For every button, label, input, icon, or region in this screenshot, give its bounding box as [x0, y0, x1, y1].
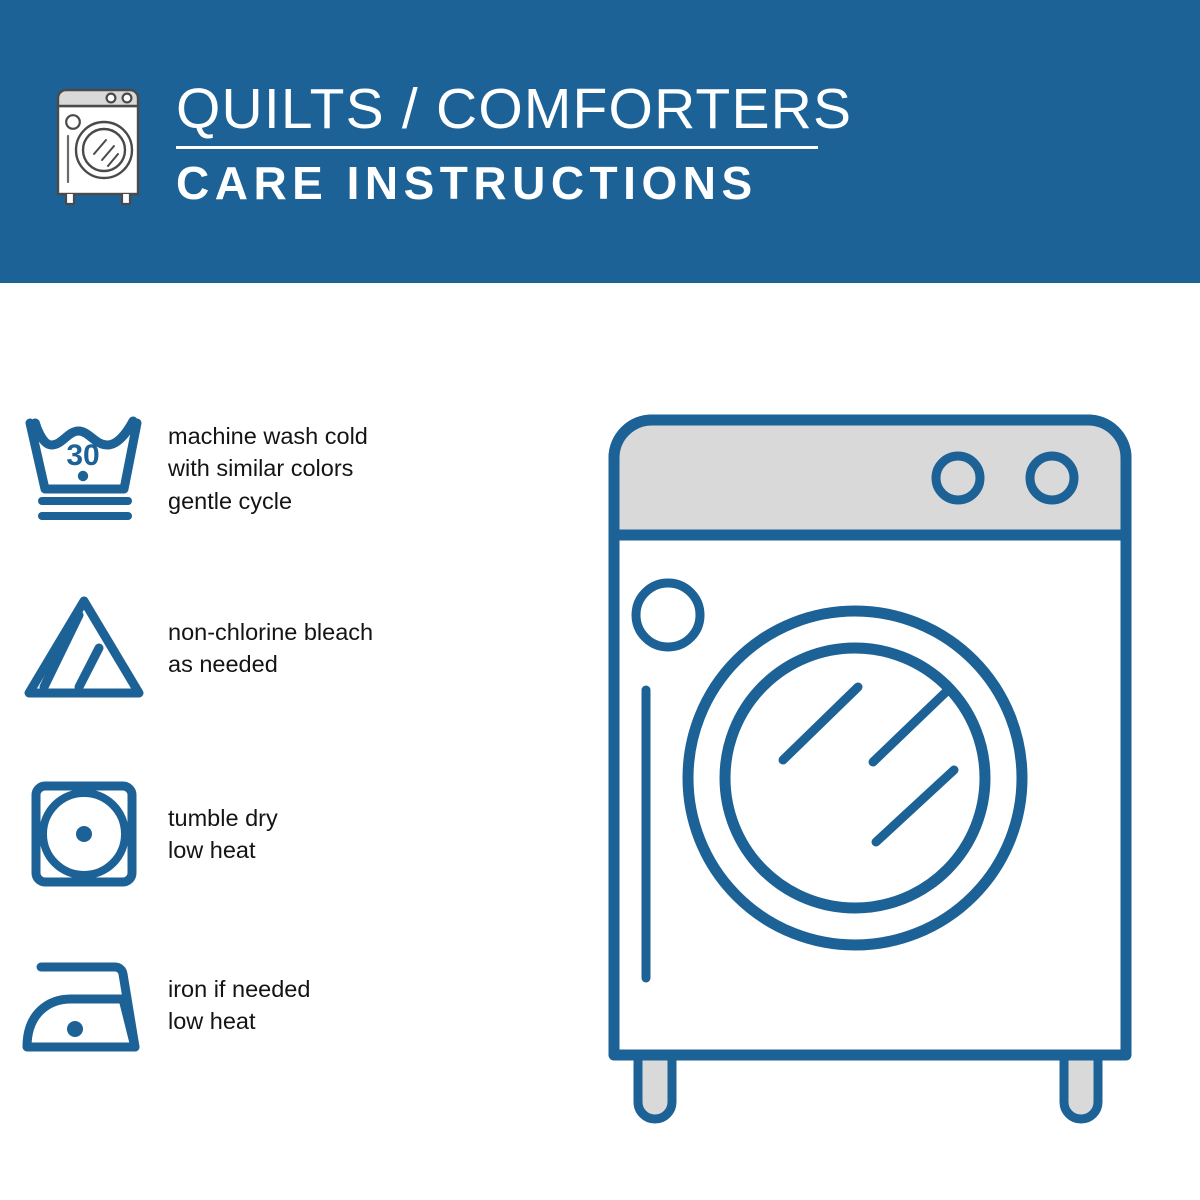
logo-knob-right: [123, 94, 132, 103]
wash-gentle-dot: [77, 471, 87, 481]
iron-icon: [19, 955, 149, 1055]
care-row-iron: iron if needed low heat: [0, 955, 560, 1055]
care-instruction-list: 30 machine wash cold with similar colors…: [0, 283, 560, 1200]
care-symbol-slot: [0, 955, 168, 1055]
dryer-heat-dot: [76, 826, 92, 842]
tumble-dry-icon: [28, 778, 140, 890]
care-row-machine-wash: 30 machine wash cold with similar colors…: [0, 411, 560, 526]
care-row-bleach: non-chlorine bleach as needed: [0, 593, 560, 703]
logo-knob-left: [107, 94, 116, 103]
wash-temperature-label: 30: [66, 439, 99, 472]
knob-right[interactable]: [1030, 456, 1074, 500]
iron-soleplate: [27, 999, 135, 1047]
wash-tub-icon: 30: [18, 411, 151, 526]
title-block: QUILTS / COMFORTERS CARE INSTRUCTIONS: [176, 78, 852, 209]
care-symbol-slot: [0, 778, 168, 890]
care-row-tumble-dry: tumble dry low heat: [0, 778, 560, 890]
care-label-tumble-dry: tumble dry low heat: [168, 802, 278, 867]
washing-machine-icon: [50, 78, 154, 210]
page-title: QUILTS / COMFORTERS: [176, 78, 852, 140]
care-symbol-slot: [0, 593, 168, 703]
bleach-triangle-icon: [21, 593, 147, 703]
page-subtitle: CARE INSTRUCTIONS: [176, 157, 852, 209]
care-symbol-slot: 30: [0, 411, 168, 526]
title-divider: [176, 146, 818, 149]
logo-leg-left: [66, 194, 74, 204]
iron-heat-dot: [67, 1021, 83, 1037]
door-latch-button[interactable]: [636, 583, 700, 647]
knob-left[interactable]: [936, 456, 980, 500]
logo-leg-right: [122, 194, 130, 204]
care-label-machine-wash: machine wash cold with similar colors ge…: [168, 420, 368, 518]
washing-machine-svg: [600, 400, 1170, 1130]
logo-door-latch: [66, 115, 80, 129]
header-content: QUILTS / COMFORTERS CARE INSTRUCTIONS: [50, 78, 852, 210]
header-banner: QUILTS / COMFORTERS CARE INSTRUCTIONS: [0, 0, 1200, 283]
care-label-iron: iron if needed low heat: [168, 973, 310, 1038]
bleach-stripe-2: [79, 648, 99, 687]
washing-machine-illustration: [600, 400, 1170, 1130]
care-label-bleach: non-chlorine bleach as needed: [168, 616, 373, 681]
